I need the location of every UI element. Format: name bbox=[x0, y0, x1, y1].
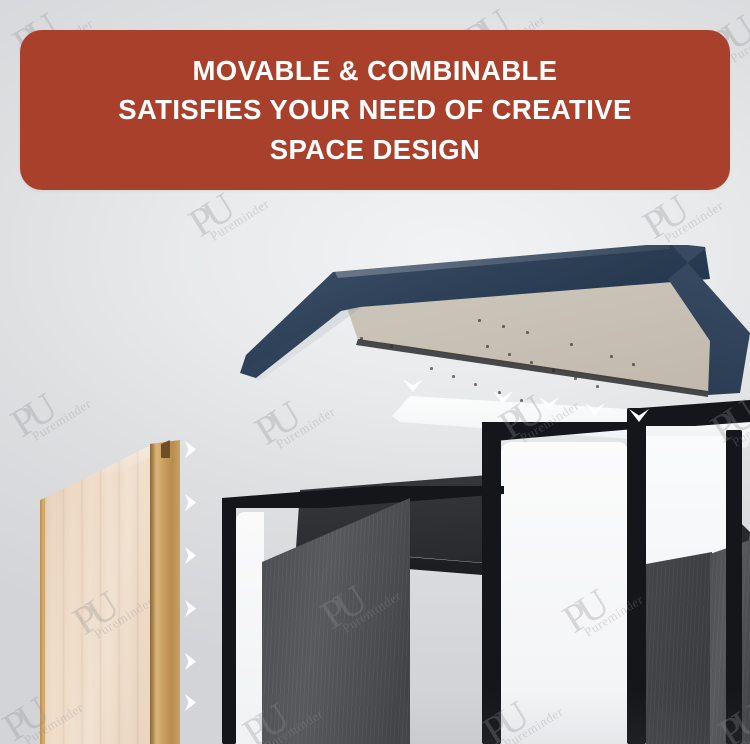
canopy-perforation-dot bbox=[474, 383, 477, 386]
wood-panel-face bbox=[45, 436, 153, 744]
canopy-perforation-dot bbox=[430, 367, 433, 370]
canopy-perforation-dot bbox=[520, 399, 523, 402]
canopy-perforation-dot bbox=[478, 319, 481, 322]
canopy-perforation-dot bbox=[502, 325, 505, 328]
canopy-perforation-dot bbox=[610, 355, 613, 358]
chevron-down-icon bbox=[402, 378, 424, 394]
product-promo-image: PUPureminderPUPureminderPUPureminderPUPu… bbox=[0, 0, 750, 744]
wood-slat-panel bbox=[40, 436, 180, 744]
cavity-left bbox=[236, 512, 264, 744]
chevron-down-icon bbox=[584, 402, 606, 418]
chevron-right-icon bbox=[183, 493, 198, 512]
chevron-down-icon bbox=[628, 408, 650, 424]
chevron-right-icon bbox=[183, 693, 198, 712]
canopy-perforation-dot bbox=[486, 345, 489, 348]
canopy-perforation-dot bbox=[530, 361, 533, 364]
canopy-perforation-dot bbox=[596, 385, 599, 388]
headline-line-2: SATISFIES YOUR NEED OF CREATIVE bbox=[118, 90, 632, 129]
canopy-perforation-dot bbox=[360, 337, 363, 340]
chevron-down-icon bbox=[492, 390, 514, 406]
chevron-right-icon bbox=[183, 652, 198, 671]
right-chevron-group bbox=[180, 440, 214, 712]
canopy-perforation-dot bbox=[570, 343, 573, 346]
wood-rail-shadow bbox=[150, 436, 156, 744]
canopy-perforation-dot bbox=[452, 375, 455, 378]
floor-shadow bbox=[400, 690, 750, 744]
canopy-perforation-dot bbox=[508, 353, 511, 356]
chevron-right-icon bbox=[183, 599, 198, 618]
canopy-perforation-dot bbox=[526, 331, 529, 334]
chevron-right-icon bbox=[183, 440, 198, 459]
canopy-perforation-dot bbox=[632, 363, 635, 366]
headline-line-3: SPACE DESIGN bbox=[270, 130, 481, 169]
headline-banner: MOVABLE & COMBINABLE SATISFIES YOUR NEED… bbox=[20, 30, 730, 190]
headline-line-1: MOVABLE & COMBINABLE bbox=[193, 51, 558, 90]
chevron-down-icon bbox=[538, 396, 560, 412]
chevron-right-icon bbox=[183, 546, 198, 565]
frame-post-left bbox=[222, 498, 236, 744]
